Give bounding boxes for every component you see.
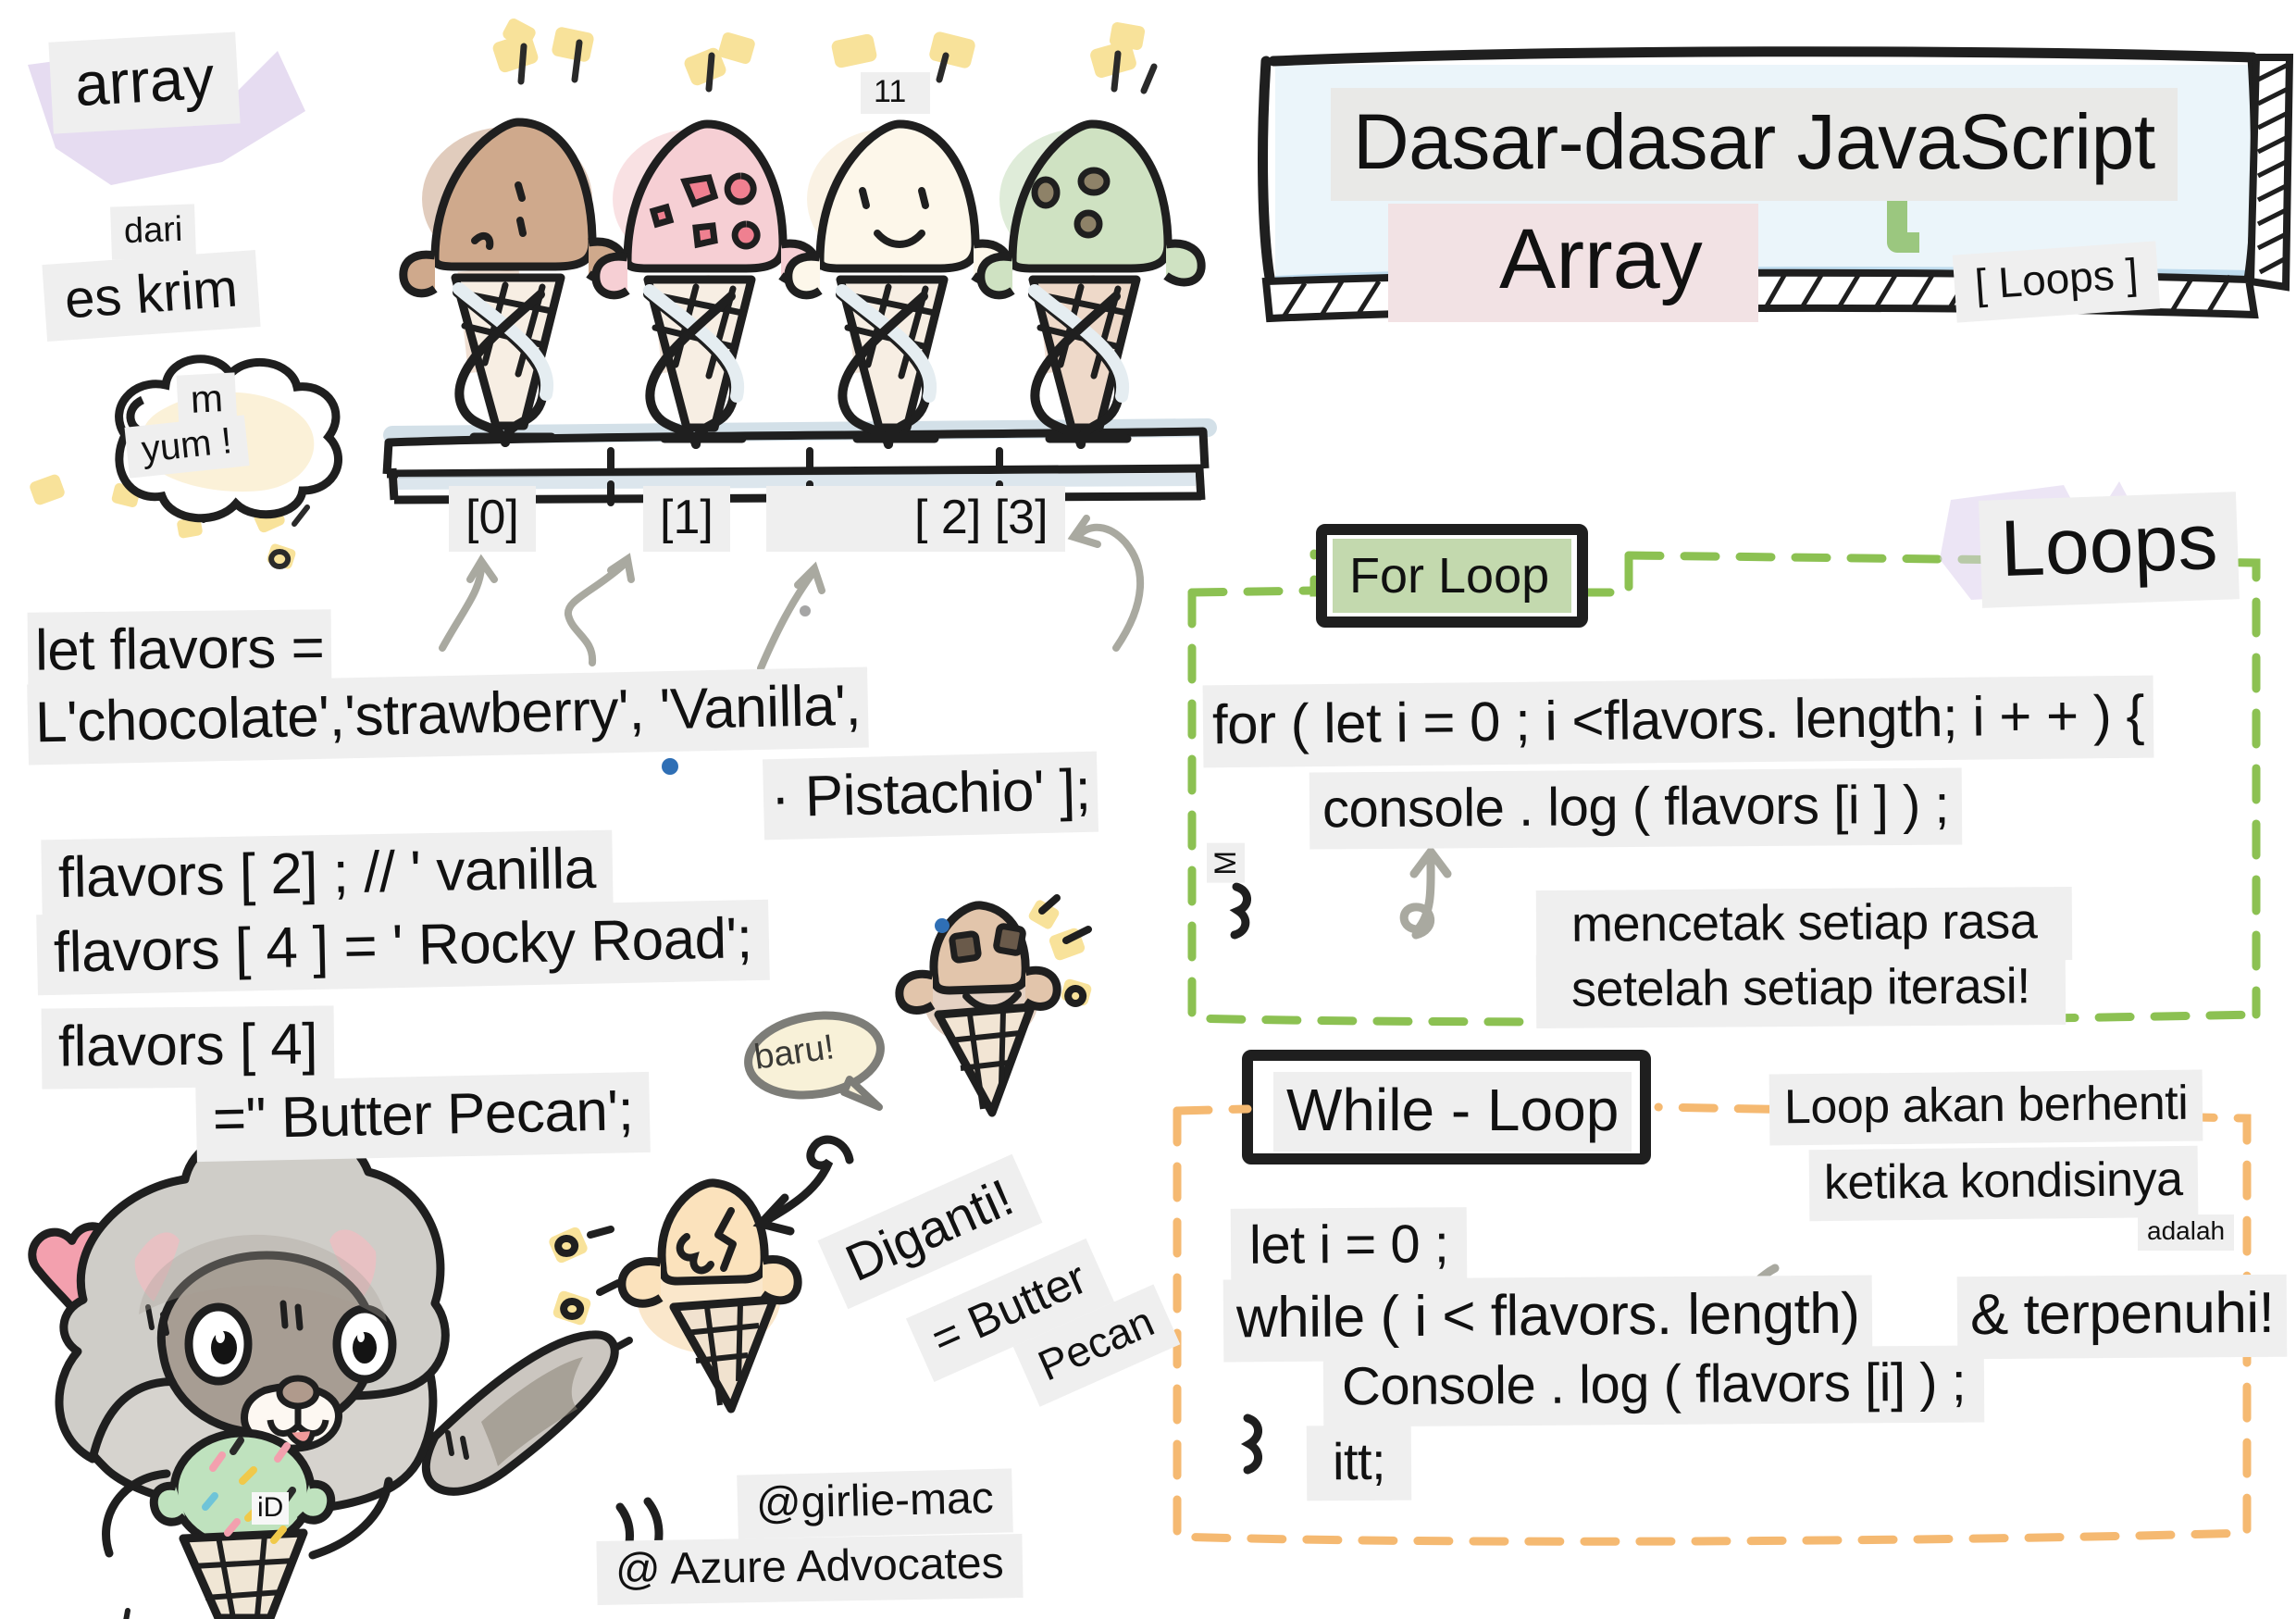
array-index-2-3: [ 2] [3] — [766, 486, 1065, 552]
code-line-index4: flavors [ 4] — [42, 1005, 335, 1090]
for-loop-note-line-2: setelah setiap iterasi! — [1536, 952, 2066, 1028]
while-note-line-2: ketika kondisinya — [1809, 1146, 2198, 1221]
cone-butter-pecan — [547, 1183, 798, 1409]
while-note-line-1: Loop akan berhenti — [1769, 1070, 2203, 1146]
for-note-arrow — [1404, 852, 1447, 935]
poster-subject: Array — [1388, 204, 1758, 322]
while-code-line-1: let i = 0 ; — [1231, 1207, 1468, 1286]
raccoon-mascot — [30, 1126, 614, 1619]
heading-es-krim: es krim — [42, 250, 260, 342]
for-loop-code-line-1: for ( let i = 0 ; i <flavors. length; i … — [1203, 676, 2154, 768]
page-number: 11 — [861, 72, 930, 114]
sketchnote-canvas: array dari es krim m yum ! 11 [0] [1] [ … — [0, 0, 2296, 1619]
while-note-line-4: & terpenuhi! — [1957, 1275, 2288, 1360]
array-index-0: [0] — [449, 486, 536, 552]
confetti-left-strokes — [204, 454, 335, 567]
code-line-pistachio: · Pistachio' ]; — [763, 752, 1098, 841]
credit-org: @ Azure Advocates — [596, 1534, 1023, 1605]
poster-bracket: [ Loops ] — [1953, 241, 2161, 322]
for-loop-code-line-2: console . log ( flavors [i ] ) ; — [1309, 768, 1963, 850]
while-code-line-4: itt; — [1307, 1426, 1412, 1501]
for-loop-closing-brace — [1235, 887, 1247, 935]
thought-yum-label: yum ! — [124, 415, 249, 478]
cone-vanilla — [788, 124, 1009, 444]
loops-section-title: Loops — [1979, 492, 2240, 607]
poster-title: Dasar-dasar JavaScript — [1331, 88, 2178, 201]
code-line-butter-pecan: =" Butter Pecan'; — [195, 1072, 651, 1162]
code-line-array-values: L'chocolate','strawberry', 'Vanilla', — [27, 666, 869, 765]
for-loop-brace-mark: M — [1207, 843, 1245, 883]
confetti-top — [491, 17, 1146, 87]
heading-array: array — [48, 31, 241, 133]
credit-handle: @girlie-mac — [737, 1468, 1012, 1538]
confetti-top-strokes — [521, 43, 1154, 91]
confetti-left — [29, 473, 297, 570]
while-loop-closing-brace — [1247, 1418, 1259, 1470]
cone-strawberry — [596, 124, 816, 444]
code-line-assign-index4: flavors [ 4 ] = ' Rocky Road'; — [36, 900, 769, 996]
cone-chocolate — [403, 122, 624, 442]
heading-dari: dari — [110, 204, 196, 259]
while-note-line-3: adalah — [2138, 1214, 2234, 1251]
for-loop-label: For Loop — [1349, 547, 1549, 604]
array-index-1: [1] — [643, 486, 730, 552]
callout-baru: baru! — [751, 1027, 837, 1078]
while-code-line-3: Console . log ( flavors [i] ) ; — [1323, 1346, 1985, 1427]
replacement-arrow — [761, 1140, 850, 1231]
while-loop-label: While - Loop — [1273, 1072, 1632, 1152]
cone-pistachio — [981, 124, 1201, 444]
smiley-small-label: iD — [252, 1492, 289, 1525]
cone-small-chocolate — [900, 898, 1093, 1113]
